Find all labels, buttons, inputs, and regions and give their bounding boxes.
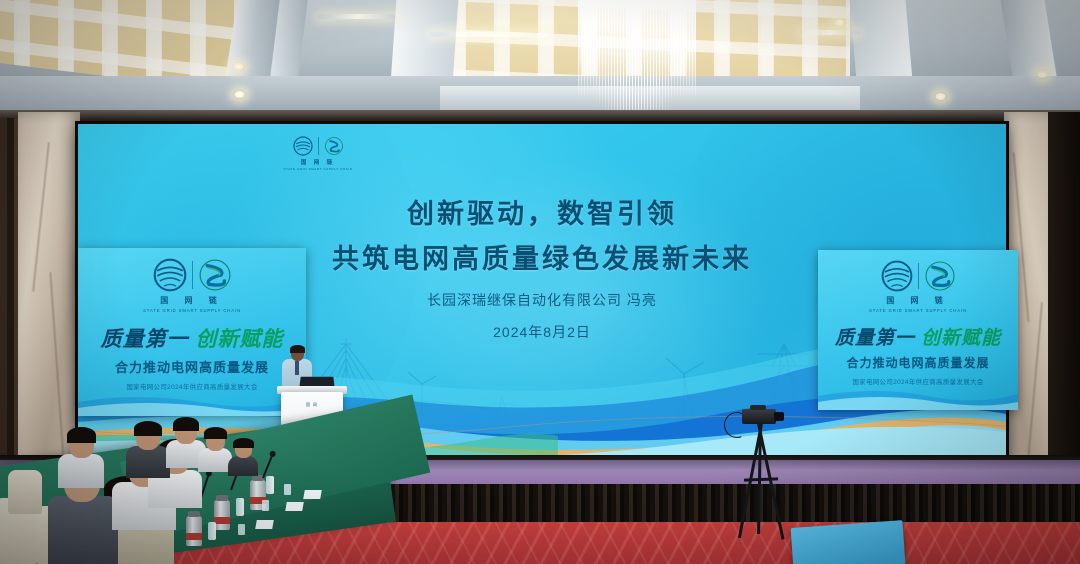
- ceiling-strip-light: [317, 14, 398, 19]
- banner-left-logo-cn: 国 网 链: [160, 295, 223, 306]
- banner-right-logo-en: STATE GRID SMART SUPPLY CHAIN: [869, 308, 967, 313]
- audience-body: [228, 456, 258, 476]
- banner-left-headline: 质量第一 创新赋能: [78, 323, 306, 353]
- banner-right-headline-b: 创新赋能: [921, 328, 1001, 349]
- audience-hair: [134, 421, 162, 436]
- audience-hair: [173, 417, 199, 431]
- water-bottle: [266, 476, 274, 494]
- audience-member: [126, 424, 170, 478]
- video-camera: [738, 405, 784, 427]
- ceiling-strip-light: [800, 30, 861, 35]
- audience-member: [228, 440, 258, 476]
- wall-recess-right: [1048, 112, 1080, 512]
- camera-handle: [750, 405, 766, 410]
- audience-body: [126, 446, 170, 478]
- thermos-flask: [214, 500, 230, 530]
- audience-body: [198, 448, 232, 472]
- banner-right-headline: 质量第一 创新赋能: [818, 323, 1018, 350]
- ceiling-downlight: [233, 90, 246, 99]
- state-grid-emblem-icon: [293, 136, 313, 156]
- ceiling-downlight: [833, 18, 846, 27]
- ceiling: [0, 0, 1080, 118]
- screen-logo-cn: 国 网 链: [301, 158, 336, 166]
- smart-supply-chain-emblem-icon: [198, 258, 232, 292]
- name-card: [285, 502, 304, 511]
- banner-right-logo-cn: 国 网 链: [886, 295, 949, 306]
- drinking-glass: [284, 484, 291, 495]
- name-card: [303, 490, 322, 499]
- audience-body: [48, 496, 118, 564]
- audience-member: [198, 430, 232, 472]
- smart-supply-chain-emblem-icon: [924, 260, 956, 292]
- banner-left-subhead: 合力推动电网高质量发展: [78, 357, 306, 376]
- banner-right-headline-a: 质量第一: [835, 328, 915, 349]
- ceiling-downlight: [232, 62, 245, 71]
- banner-left-headline-a: 质量第一: [101, 328, 189, 351]
- banner-right-subhead: 合力推动电网高质量发展: [818, 354, 1018, 371]
- ceiling-strip-light: [430, 32, 551, 37]
- audience-hair: [204, 427, 227, 439]
- banner-right: 国 网 链 STATE GRID SMART SUPPLY CHAIN 质量第一…: [818, 250, 1018, 410]
- banner-left-headline-b: 创新赋能: [195, 328, 283, 351]
- smart-supply-chain-emblem-icon: [324, 136, 344, 156]
- ceiling-downlight: [934, 92, 947, 101]
- presenter-hair: [290, 345, 305, 353]
- blue-panel-board: [791, 520, 906, 564]
- screen-title-line1: 创新驱动，数智引领: [78, 192, 1006, 231]
- wall-top-rail: [0, 110, 1080, 120]
- logo-divider: [318, 137, 319, 155]
- banner-left-logo-en: STATE GRID SMART SUPPLY CHAIN: [143, 308, 241, 313]
- ceiling-downlight: [1036, 70, 1049, 79]
- banner-left: 国 网 链 STATE GRID SMART SUPPLY CHAIN 质量第一…: [78, 248, 306, 416]
- conference-hall-scene: 国 网 链 STATE GRID SMART SUPPLY CHAIN 创新驱动…: [0, 0, 1080, 564]
- banner-left-logo: 国 网 链 STATE GRID SMART SUPPLY CHAIN: [78, 248, 306, 313]
- audience-member: [58, 430, 104, 488]
- camera-lens: [774, 412, 784, 421]
- presenter-tie: [295, 361, 299, 375]
- state-grid-emblem-icon: [153, 258, 187, 292]
- logo-divider: [918, 263, 919, 289]
- drinking-glass: [262, 500, 269, 511]
- podium-logo: 国 网: [281, 402, 343, 408]
- audience-body: [58, 454, 104, 488]
- chair: [8, 470, 42, 514]
- drinking-glass: [238, 524, 245, 535]
- audience-hair: [67, 427, 96, 443]
- state-grid-emblem-icon: [881, 260, 913, 292]
- banner-right-logo: 国 网 链 STATE GRID SMART SUPPLY CHAIN: [818, 250, 1018, 313]
- water-bottle: [236, 498, 244, 516]
- water-bottle: [208, 522, 216, 540]
- name-card: [255, 520, 274, 529]
- banner-right-wave: [818, 380, 1018, 410]
- audience-hair: [233, 438, 254, 448]
- screen-logo-en: STATE GRID SMART SUPPLY CHAIN: [283, 167, 352, 171]
- camera-body: [742, 409, 776, 424]
- thermos-flask: [186, 516, 202, 546]
- banner-left-wave: [78, 386, 306, 416]
- screen-logo-block: 国 网 链 STATE GRID SMART SUPPLY CHAIN: [274, 136, 362, 182]
- logo-divider: [192, 261, 193, 289]
